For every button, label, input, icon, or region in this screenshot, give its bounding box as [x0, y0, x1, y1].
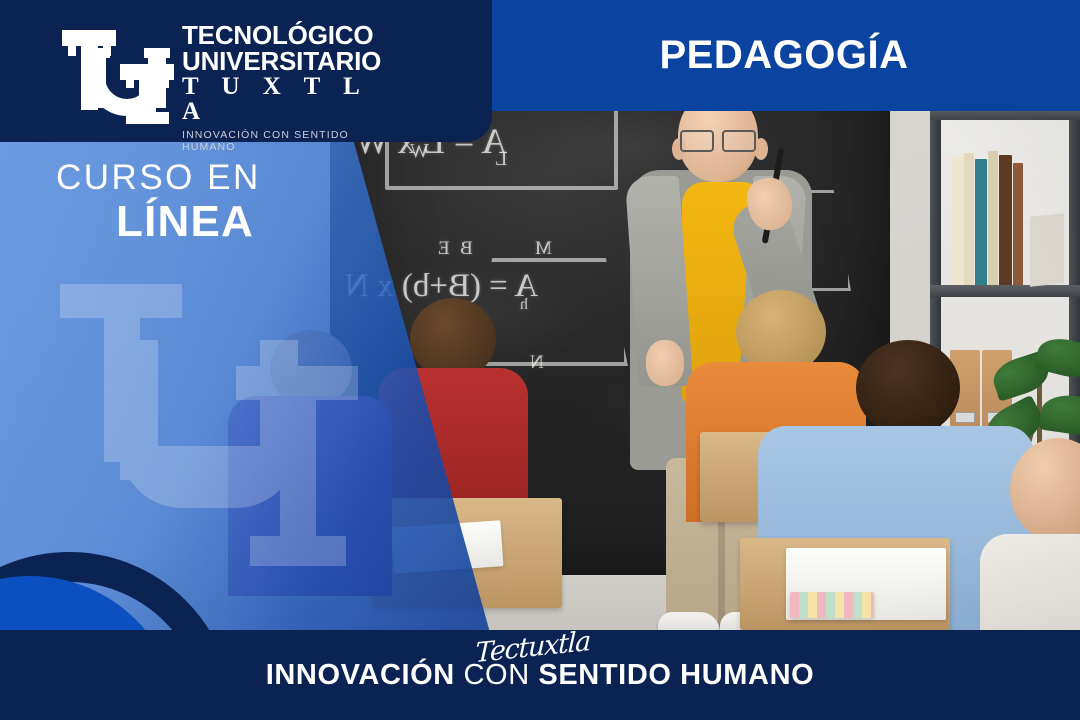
- logo-line-tuxtla: T U X T L A: [182, 74, 404, 124]
- footer-slogan-part1: INNOVACIÓN: [266, 659, 464, 691]
- glasses-lens-left: [680, 130, 714, 152]
- chalk-label-m: M: [535, 238, 552, 260]
- book: [1013, 163, 1023, 285]
- hero-text-block: CURSO EN LÍNEA: [52, 160, 372, 245]
- footer-band: INNOVACIÓN CON SENTIDO HUMANO Tectuxtla: [0, 630, 1080, 720]
- student-face: [1010, 438, 1080, 542]
- chalk-label-w: W: [410, 140, 429, 163]
- monogram-t2-serif-right: [161, 64, 169, 88]
- poster: SNOISNEMID A = L x W W L A = (B+b) x N B…: [0, 0, 1080, 720]
- book: [999, 155, 1012, 285]
- hero-headline: LÍNEA: [52, 199, 372, 245]
- glasses-lens-right: [722, 130, 756, 152]
- chalk-label-h: h: [520, 296, 528, 314]
- logo-line-universitario: UNIVERSITARIO: [182, 48, 404, 74]
- shelf-board-2: [930, 285, 1080, 297]
- footer-slogan-part2: CON: [464, 659, 530, 691]
- book-stack: [1030, 213, 1064, 287]
- book: [952, 157, 963, 285]
- plant-leaf: [1039, 392, 1080, 439]
- book: [975, 159, 987, 285]
- watermark-u-counter: [158, 446, 260, 480]
- tut-monogram-icon: [62, 24, 174, 122]
- teacher-glasses: [680, 130, 756, 148]
- monogram-t2-serif-left: [126, 64, 134, 88]
- monogram-t1-serif-left: [68, 30, 76, 56]
- chalk-label-l: L: [495, 148, 507, 171]
- book: [964, 153, 974, 285]
- teacher-hand-lower: [646, 340, 684, 386]
- chalk-label-e: E: [438, 238, 450, 260]
- logo-tagline: INNOVACIÓN CON SENTIDO HUMANO: [182, 129, 404, 153]
- book-row-top: [952, 145, 1062, 285]
- footer-slogan: INNOVACIÓN CON SENTIDO HUMANO: [266, 659, 815, 692]
- tut-watermark: [60, 270, 420, 600]
- color-strip: [790, 592, 874, 618]
- chalk-label-n: N: [530, 352, 544, 374]
- monogram-t2-foot: [126, 112, 169, 124]
- monogram-u-serif-right: [144, 48, 170, 58]
- logo-wordmark: TECNOLÓGICO UNIVERSITARIO T U X T L A IN…: [182, 22, 404, 153]
- student-hair: [856, 340, 960, 436]
- hero-kicker: CURSO EN: [52, 160, 372, 197]
- monogram-u-serif-left: [84, 48, 110, 58]
- footer-content: INNOVACIÓN CON SENTIDO HUMANO: [0, 630, 1080, 720]
- book: [988, 151, 998, 285]
- institution-logo[interactable]: TECNOLÓGICO UNIVERSITARIO T U X T L A IN…: [62, 22, 402, 122]
- program-title: PEDAGOGÍA: [488, 0, 1080, 111]
- footer-slogan-part3: SENTIDO HUMANO: [530, 659, 815, 691]
- watermark-t2-foot: [250, 536, 346, 566]
- logo-line-tecnologico: TECNOLÓGICO: [182, 22, 404, 48]
- chalk-label-b-upper: B: [460, 238, 473, 260]
- teacher-ear-right: [754, 138, 768, 160]
